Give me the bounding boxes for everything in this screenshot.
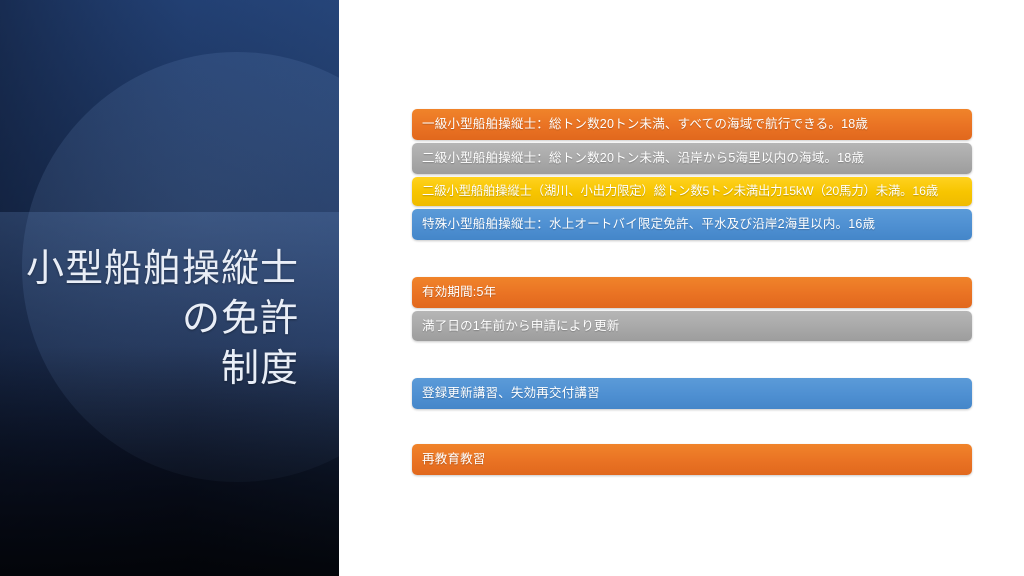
bar-label: 二級小型船舶操縦士（湖川、小出力限定）総トン数5トン未満出力15kW（20馬力）… xyxy=(422,185,938,197)
bar-label: 有効期間:5年 xyxy=(422,286,496,299)
page-title: 小型船舶操縦士 の免許 制度 xyxy=(20,244,299,394)
bar-item-license-class-1[interactable]: 一級小型船舶操縦士：総トン数20トン未満、すべての海域で航行できる。18歳 xyxy=(412,109,972,140)
bar-label: 再教育教習 xyxy=(422,453,486,466)
bar-label: 満了日の1年前から申請により更新 xyxy=(422,320,619,333)
bar-item-validity-period[interactable]: 有効期間:5年 xyxy=(412,277,972,308)
bar-label: 一級小型船舶操縦士：総トン数20トン未満、すべての海域で航行できる。18歳 xyxy=(422,118,868,131)
bar-item-reeducation-course[interactable]: 再教育教習 xyxy=(412,444,972,475)
bar-list: 一級小型船舶操縦士：総トン数20トン未満、すべての海域で航行できる。18歳 二級… xyxy=(412,0,972,576)
bar-item-renewal-application[interactable]: 満了日の1年前から申請により更新 xyxy=(412,311,972,341)
bar-label: 特殊小型船舶操縦士：水上オートバイ限定免許、平水及び沿岸2海里以内。16歳 xyxy=(422,218,875,231)
bar-item-license-special[interactable]: 特殊小型船舶操縦士：水上オートバイ限定免許、平水及び沿岸2海里以内。16歳 xyxy=(412,209,972,240)
bar-item-renewal-course[interactable]: 登録更新講習、失効再交付講習 xyxy=(412,378,972,409)
slide: 小型船舶操縦士 の免許 制度 一級小型船舶操縦士：総トン数20トン未満、すべての… xyxy=(0,0,1024,576)
bar-item-license-class-2[interactable]: 二級小型船舶操縦士：総トン数20トン未満、沿岸から5海里以内の海域。18歳 xyxy=(412,143,972,174)
bar-label: 二級小型船舶操縦士：総トン数20トン未満、沿岸から5海里以内の海域。18歳 xyxy=(422,152,864,165)
bar-label: 登録更新講習、失効再交付講習 xyxy=(422,387,600,400)
title-panel: 小型船舶操縦士 の免許 制度 xyxy=(0,0,339,576)
bar-item-license-class-2-limited[interactable]: 二級小型船舶操縦士（湖川、小出力限定）総トン数5トン未満出力15kW（20馬力）… xyxy=(412,177,972,206)
